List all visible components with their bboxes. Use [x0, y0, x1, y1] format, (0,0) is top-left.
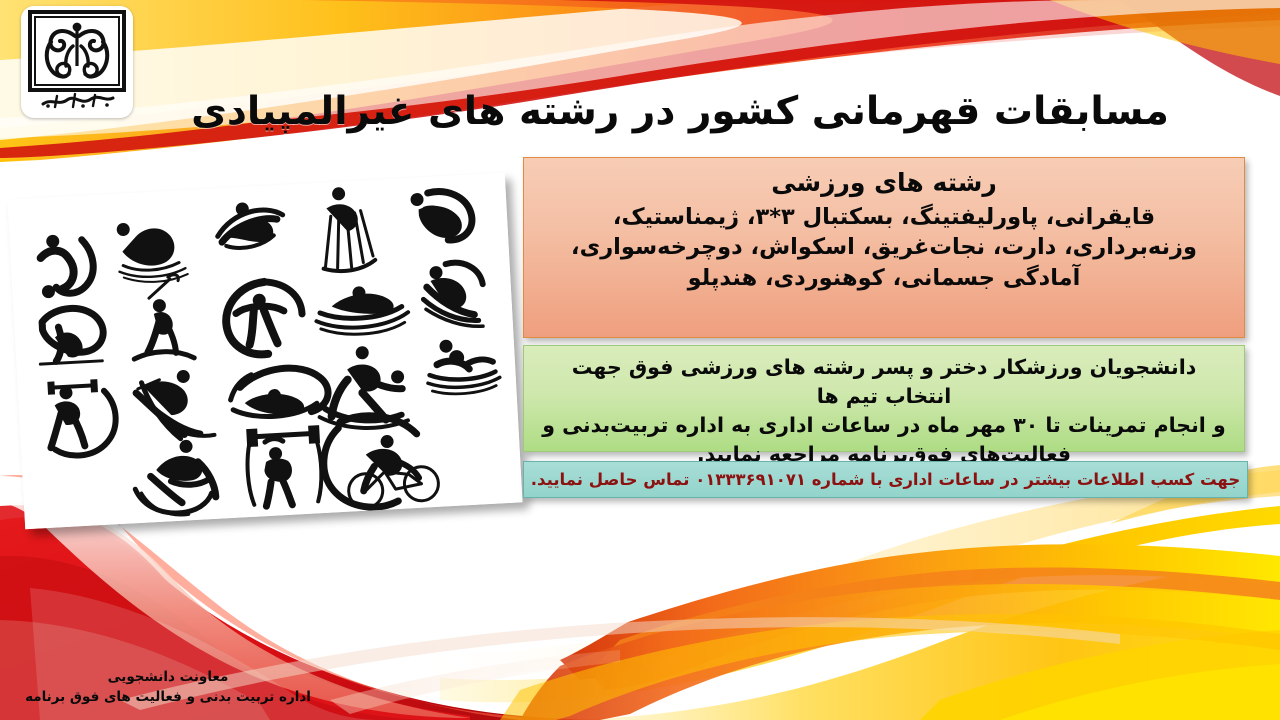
notice-line-1: دانشجویان ورزشکار دختر و پسر رشته های ور… — [537, 353, 1231, 411]
sports-list-line-3: آمادگی جسمانی، کوهنوردی، هندپلو — [538, 263, 1230, 294]
footer-line-1: معاونت دانشجویی — [0, 668, 336, 688]
footer-line-2: اداره تربیت بدنی و فعالیت های فوق برنامه — [0, 688, 336, 708]
sports-list-line-2: وزنه‌برداری، دارت، نجات‌غریق، اسکواش، دو… — [538, 232, 1230, 263]
page-title: مسابقات قهرمانی کشور در رشته های غیرالمپ… — [0, 88, 1280, 136]
contact-info-box: جهت کسب اطلاعات بیشتر در ساعات اداری با … — [523, 461, 1248, 498]
notice-line-2: و انجام تمرینات تا ۳۰ مهر ماه در ساعات ا… — [537, 411, 1231, 440]
registration-notice-box: دانشجویان ورزشکار دختر و پسر رشته های ور… — [523, 345, 1245, 452]
contact-text: جهت کسب اطلاعات بیشتر در ساعات اداری با … — [531, 470, 1240, 490]
footer-credits: معاونت دانشجویی اداره تربیت بدنی و فعالی… — [0, 668, 336, 707]
sports-list-box: رشته های ورزشی قایقرانی، پاورلیفتینگ، بس… — [523, 157, 1245, 338]
sports-pictograms-card — [7, 173, 522, 529]
sports-list-line-1: قایقرانی، پاورلیفتینگ، بسکتبال ۳*۳، ژیمن… — [538, 202, 1230, 233]
poster-canvas: مسابقات قهرمانی کشور در رشته های غیرالمپ… — [0, 0, 1280, 720]
sports-list-heading: رشته های ورزشی — [538, 167, 1230, 200]
